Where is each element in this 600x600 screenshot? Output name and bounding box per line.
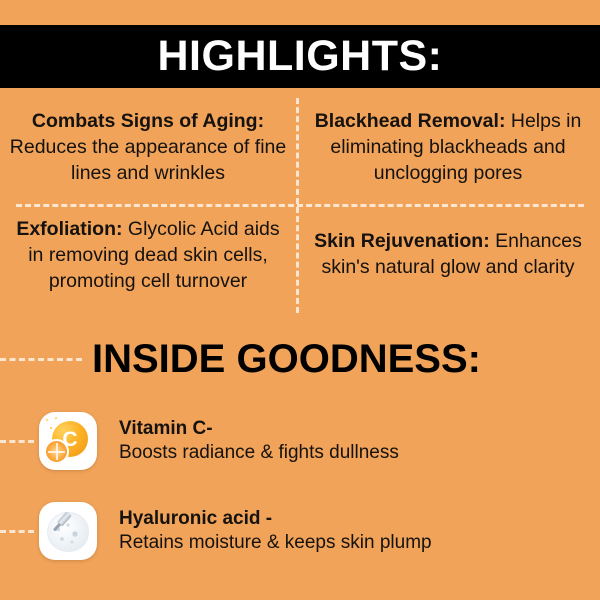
- ingredient-rule: [0, 440, 34, 443]
- ingredient-rule: [0, 530, 34, 533]
- hyaluronic-acid-icon: [39, 502, 97, 560]
- ingredient-row-vitamin-c: C Vitamin C- Boosts radiance & fights du…: [0, 406, 600, 476]
- highlight-heading: Skin Rejuvenation:: [314, 230, 490, 252]
- grid-horizontal-divider: [16, 204, 584, 207]
- ingredient-name: Vitamin C-: [119, 417, 399, 441]
- ingredient-text: Hyaluronic acid - Retains moisture & kee…: [119, 507, 432, 555]
- ingredient-text: Vitamin C- Boosts radiance & fights dull…: [119, 417, 399, 465]
- highlight-heading: Combats Signs of Aging:: [32, 110, 264, 132]
- highlight-item-exfoliation: Exfoliation: Glycolic Acid aids in remov…: [0, 216, 296, 294]
- highlight-heading: Blackhead Removal:: [315, 110, 506, 132]
- inside-goodness-title: INSIDE GOODNESS:: [82, 339, 493, 379]
- highlights-banner: HIGHLIGHTS:: [0, 25, 600, 88]
- heading-rule-left: [0, 358, 82, 361]
- ingredient-description: Retains moisture & keeps skin plump: [119, 531, 432, 556]
- ingredient-description: Boosts radiance & fights dullness: [119, 441, 399, 466]
- vitamin-c-icon: C: [39, 412, 97, 470]
- highlight-item-blackhead-removal: Blackhead Removal: Helps in eliminating …: [300, 108, 596, 186]
- orange-slice-icon: [44, 439, 69, 464]
- highlight-item-skin-rejuvenation: Skin Rejuvenation: Enhances skin's natur…: [300, 228, 596, 280]
- highlights-title: HIGHLIGHTS:: [158, 35, 443, 78]
- highlight-item-combats-signs-of-aging: Combats Signs of Aging: Reduces the appe…: [0, 108, 296, 186]
- inside-goodness-header: INSIDE GOODNESS:: [0, 328, 600, 390]
- highlight-heading: Exfoliation:: [16, 218, 122, 240]
- dropper-tip: [53, 523, 61, 532]
- highlights-grid: Combats Signs of Aging: Reduces the appe…: [0, 98, 600, 313]
- highlight-body: Reduces the appearance of fine lines and…: [10, 136, 286, 184]
- ingredient-name: Hyaluronic acid -: [119, 507, 432, 531]
- ingredient-row-hyaluronic-acid: Hyaluronic acid - Retains moisture & kee…: [0, 496, 600, 566]
